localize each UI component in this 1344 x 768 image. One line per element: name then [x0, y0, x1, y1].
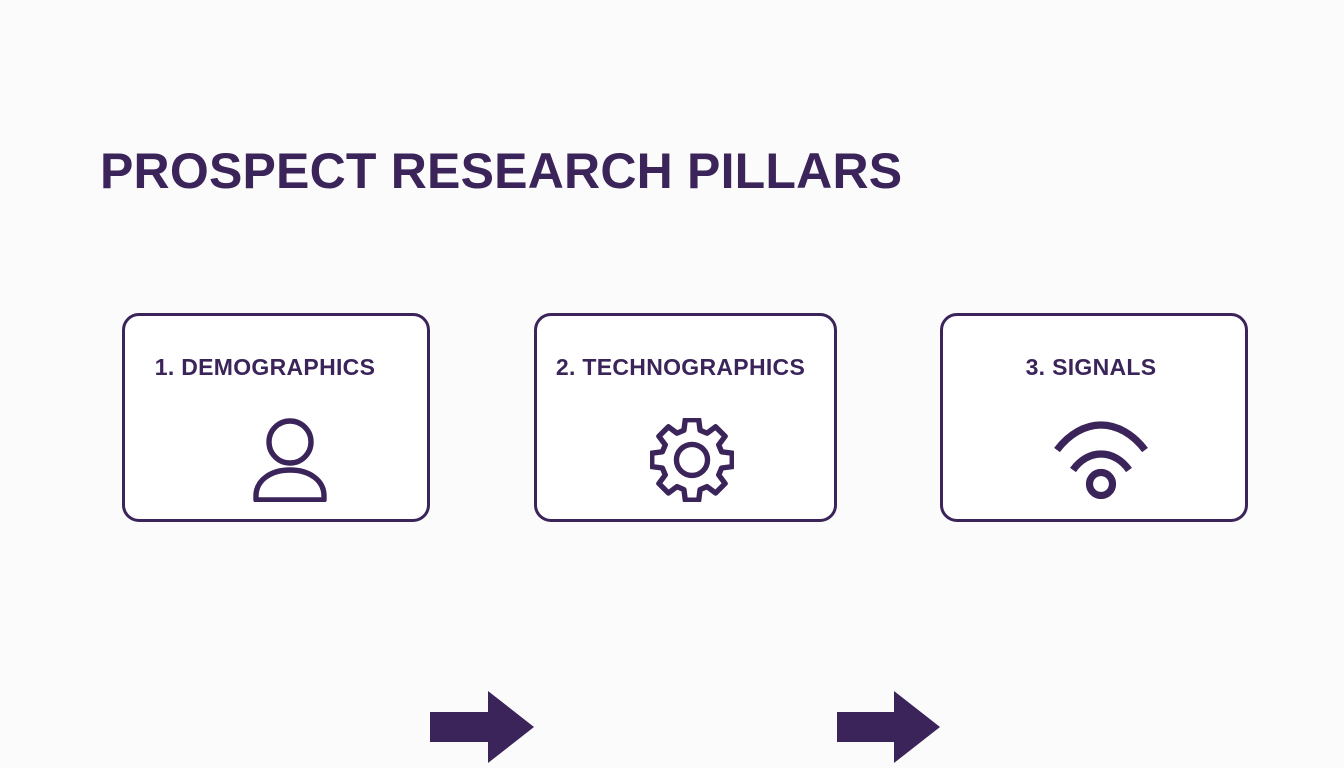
arrow-right-icon: [837, 691, 940, 763]
pillar-card-technographics[interactable]: 2. TECHNOGRAPHICS: [534, 313, 837, 522]
pillar-card-demographics[interactable]: 1. DEMOGRAPHICS: [122, 313, 430, 522]
pillar-label-signals: 3. SIGNALS: [943, 354, 1245, 381]
gear-icon: [537, 417, 834, 503]
slide-canvas: PROSPECT RESEARCH PILLARS 1. DEMOGRAPHIC…: [0, 0, 1344, 768]
arrow-right-icon: [430, 691, 534, 763]
pillar-label-demographics: 1. DEMOGRAPHICS: [125, 354, 427, 381]
page-title: PROSPECT RESEARCH PILLARS: [100, 143, 902, 199]
pillar-flow-row: 1. DEMOGRAPHICS 2. TECHNOGRAPHICS: [0, 313, 1344, 525]
pillar-card-signals[interactable]: 3. SIGNALS: [940, 313, 1248, 522]
wifi-signal-icon: [943, 417, 1245, 503]
person-icon: [125, 417, 427, 503]
pillar-label-technographics: 2. TECHNOGRAPHICS: [537, 354, 834, 381]
